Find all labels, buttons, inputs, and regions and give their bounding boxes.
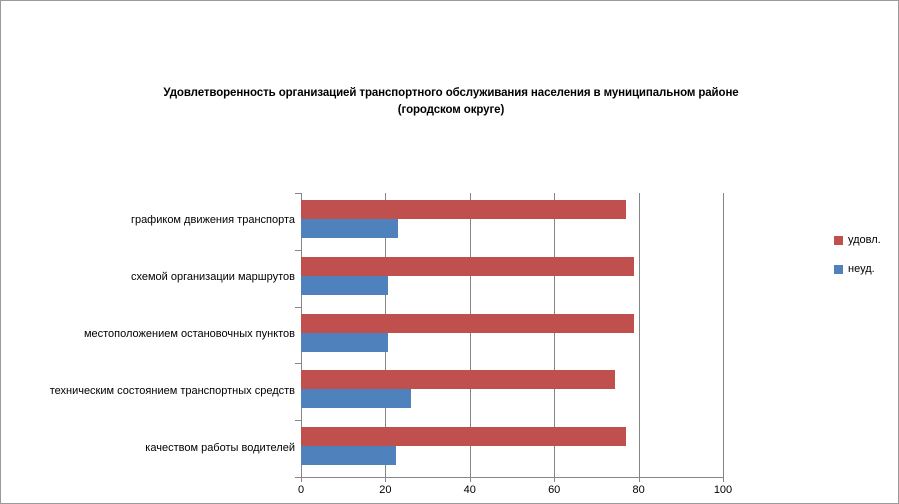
bar-group bbox=[301, 363, 723, 420]
y-tick-4 bbox=[295, 420, 301, 421]
legend-label-1: неуд. bbox=[848, 263, 875, 275]
x-axis-label-0: 0 bbox=[281, 484, 321, 496]
category-label-3: техническим состоянием транспортных сред… bbox=[3, 385, 295, 397]
x-tick-100 bbox=[723, 477, 724, 482]
chart-title-line-2: (городском округе) bbox=[111, 102, 791, 119]
category-label-4: качеством работы водителей bbox=[3, 442, 295, 454]
category-axis-labels: графиком движения транспортасхемой орган… bbox=[1, 193, 295, 477]
bar-group bbox=[301, 307, 723, 364]
chart-title-line-1: Удовлетворенность организацией транспорт… bbox=[163, 87, 738, 99]
x-tick-0 bbox=[301, 477, 302, 482]
x-axis-label-40: 40 bbox=[450, 484, 490, 496]
bar-удовл-2[interactable] bbox=[301, 314, 634, 333]
category-label-0: графиком движения транспорта bbox=[3, 214, 295, 226]
y-tick-5 bbox=[295, 477, 301, 478]
bar-удовл-3[interactable] bbox=[301, 370, 615, 389]
x-tick-60 bbox=[554, 477, 555, 482]
legend-swatch-neud bbox=[834, 265, 843, 274]
bar-удовл-0[interactable] bbox=[301, 200, 626, 219]
bar-неуд-2[interactable] bbox=[301, 333, 388, 352]
gridline-x-100 bbox=[723, 193, 724, 477]
y-tick-0 bbox=[295, 193, 301, 194]
bar-неуд-0[interactable] bbox=[301, 219, 398, 238]
x-axis-line bbox=[301, 477, 724, 478]
bar-удовл-1[interactable] bbox=[301, 257, 634, 276]
y-tick-2 bbox=[295, 307, 301, 308]
x-tick-40 bbox=[470, 477, 471, 482]
bar-неуд-1[interactable] bbox=[301, 276, 388, 295]
y-tick-1 bbox=[295, 250, 301, 251]
x-tick-80 bbox=[639, 477, 640, 482]
category-label-1: схемой организации маршрутов bbox=[3, 271, 295, 283]
bar-удовл-4[interactable] bbox=[301, 427, 626, 446]
y-tick-3 bbox=[295, 363, 301, 364]
legend-item-1[interactable]: неуд. bbox=[834, 259, 894, 279]
category-label-2: местоположением остановочных пунктов bbox=[3, 328, 295, 340]
bar-неуд-4[interactable] bbox=[301, 446, 396, 465]
plot-area bbox=[301, 193, 723, 477]
bar-group bbox=[301, 420, 723, 477]
x-axis-label-100: 100 bbox=[703, 484, 743, 496]
chart-legend: удовл.неуд. bbox=[834, 230, 894, 288]
x-axis-label-80: 80 bbox=[619, 484, 659, 496]
legend-item-0[interactable]: удовл. bbox=[834, 230, 894, 250]
x-axis-label-20: 20 bbox=[365, 484, 405, 496]
chart-title: Удовлетворенность организацией транспорт… bbox=[111, 85, 791, 119]
legend-swatch-udovl bbox=[834, 236, 843, 245]
bar-неуд-3[interactable] bbox=[301, 389, 411, 408]
x-axis-label-60: 60 bbox=[534, 484, 574, 496]
bar-group bbox=[301, 250, 723, 307]
x-tick-20 bbox=[385, 477, 386, 482]
legend-label-0: удовл. bbox=[848, 234, 881, 246]
chart-page: Удовлетворенность организацией транспорт… bbox=[0, 0, 899, 504]
bar-group bbox=[301, 193, 723, 250]
